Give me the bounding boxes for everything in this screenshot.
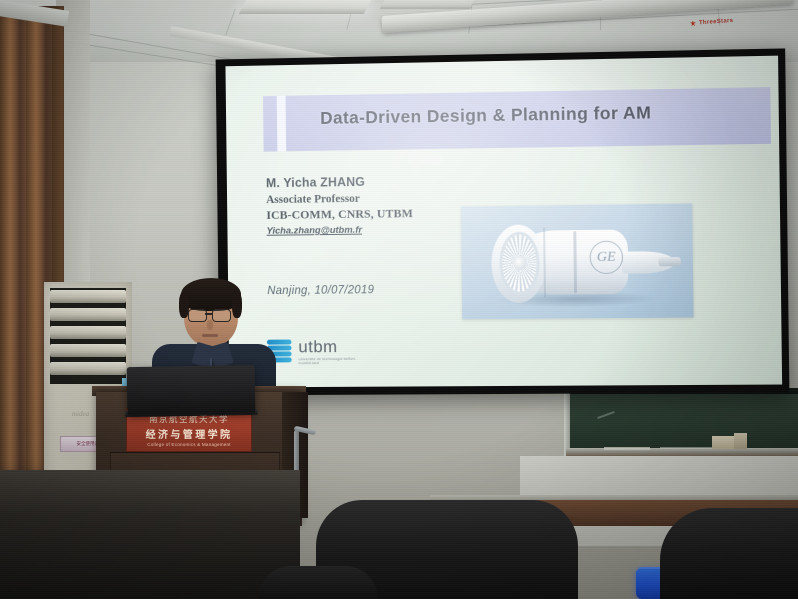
- presenter-mouth: [202, 334, 218, 337]
- engine-spinner: [513, 256, 526, 270]
- presenter-email-link[interactable]: Yicha.zhang@utbm.fr: [267, 223, 495, 237]
- star-icon: [690, 20, 696, 26]
- eyeglasses-bridge: [205, 313, 212, 315]
- presenter-nose: [207, 320, 213, 330]
- presenter-hair-right: [232, 292, 242, 318]
- plaque-english-name: College of Economics & Management: [147, 442, 230, 447]
- ge-logo-icon: GE: [589, 241, 623, 275]
- blackboard-eraser: [712, 436, 734, 449]
- engine-nozzle: [658, 257, 680, 266]
- chalk-box: [734, 433, 747, 449]
- presenter-role: Associate Professor: [266, 191, 494, 206]
- chalk-mark: [597, 411, 615, 419]
- presenter-info-block: M. Yicha ZHANG Associate Professor ICB-C…: [266, 173, 494, 237]
- slide-title-accent-bar: [277, 96, 286, 152]
- ac-brand-mark: midea: [72, 410, 89, 418]
- chair-back-c: [258, 566, 378, 599]
- slide-place-date: Nanjing, 10/07/2019: [267, 284, 374, 297]
- ac-air-grille: [50, 288, 126, 384]
- plaque-college-name: 经济与管理学院: [146, 426, 233, 441]
- presenter-name: M. Yicha ZHANG: [266, 173, 494, 190]
- ceiling-light-fixture: [239, 0, 373, 14]
- foreground-shadow-area: [0, 470, 300, 599]
- screen-brand-label: ThreeStars: [699, 17, 734, 25]
- utbm-logo: utbm universite de technologie belfort-m…: [266, 334, 375, 368]
- chalk-stick: [604, 447, 650, 450]
- lecture-hall-photo: ThreeStars Data-Driven Design & Planning…: [0, 0, 798, 599]
- eyeglasses-left-lens: [188, 309, 207, 322]
- utbm-wordmark: utbm: [298, 337, 374, 354]
- eyeglasses-right-lens: [212, 309, 231, 322]
- chair-back-b: [660, 508, 798, 599]
- slide-content: Data-Driven Design & Planning for AM M. …: [225, 56, 782, 388]
- projected-slide: Data-Driven Design & Planning for AM M. …: [225, 56, 782, 388]
- chalk-stick-2: [660, 447, 720, 449]
- projector-screen: Data-Driven Design & Planning for AM M. …: [216, 48, 790, 395]
- jet-engine-photo: GE: [461, 203, 694, 319]
- presenter-affiliation: ICB-COMM, CNRS, UTBM: [266, 205, 494, 223]
- utbm-subtitle: universite de technologie belfort-montbe…: [299, 356, 375, 364]
- ceiling-light-fixture-2: [380, 0, 476, 9]
- laptop[interactable]: [127, 365, 256, 415]
